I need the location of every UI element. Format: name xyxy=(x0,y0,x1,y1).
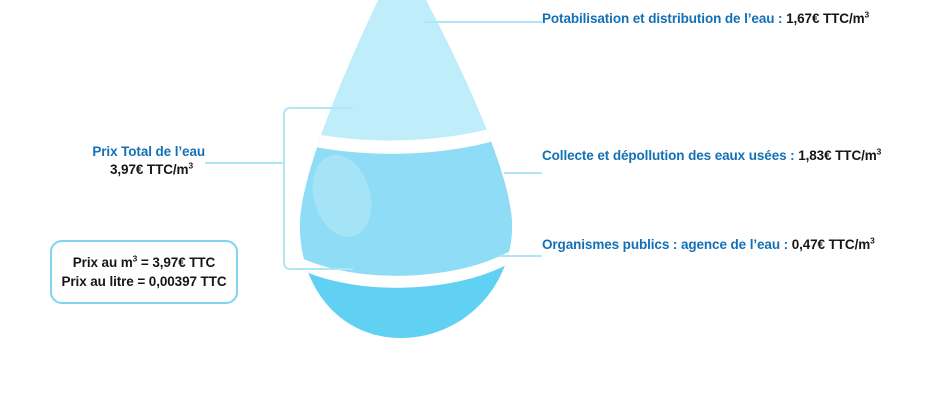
connector-line-total xyxy=(205,162,285,164)
price-summary-box: Prix au m3 = 3,97€ TTC Prix au litre = 0… xyxy=(50,240,238,304)
connector-line-organismes xyxy=(499,255,542,257)
label-organismes-text: Organismes publics : agence de l’eau : xyxy=(542,237,792,252)
label-organismes-exponent: 3 xyxy=(870,236,875,246)
label-collecte-exponent: 3 xyxy=(877,147,882,157)
label-potabilisation-exponent: 3 xyxy=(865,10,870,20)
label-organismes-value: 0,47€ TTC/m xyxy=(792,237,870,252)
water-price-infographic: Potabilisation et distribution de l’eau … xyxy=(0,0,940,400)
total-price-block: Prix Total de l’eau 3,97€ TTC/m3 xyxy=(35,143,205,179)
label-collecte-value: 1,83€ TTC/m xyxy=(798,148,876,163)
label-collecte-text: Collecte et dépollution des eaux usées : xyxy=(542,148,798,163)
total-price-value: 3,97€ TTC/m3 xyxy=(35,160,205,179)
price-per-cubic-meter-prefix: Prix au m xyxy=(73,255,133,270)
label-potabilisation: Potabilisation et distribution de l’eau … xyxy=(542,11,869,26)
water-drop-chart xyxy=(0,0,940,400)
total-price-amount: 3,97€ TTC/m xyxy=(110,162,188,177)
total-price-title: Prix Total de l’eau xyxy=(35,143,205,160)
connector-line-collecte xyxy=(504,172,542,174)
label-potabilisation-value: 1,67€ TTC/m xyxy=(786,11,864,26)
label-collecte: Collecte et dépollution des eaux usées :… xyxy=(542,148,881,163)
price-per-cubic-meter: Prix au m3 = 3,97€ TTC xyxy=(73,253,215,272)
label-potabilisation-text: Potabilisation et distribution de l’eau … xyxy=(542,11,786,26)
label-organismes: Organismes publics : agence de l’eau : 0… xyxy=(542,237,875,252)
connector-line-potabilisation xyxy=(424,21,542,23)
price-per-cubic-meter-suffix: = 3,97€ TTC xyxy=(137,255,215,270)
price-per-liter: Prix au litre = 0,00397 TTC xyxy=(61,272,226,291)
total-bracket-connector xyxy=(283,107,353,270)
total-price-exponent: 3 xyxy=(188,161,193,171)
